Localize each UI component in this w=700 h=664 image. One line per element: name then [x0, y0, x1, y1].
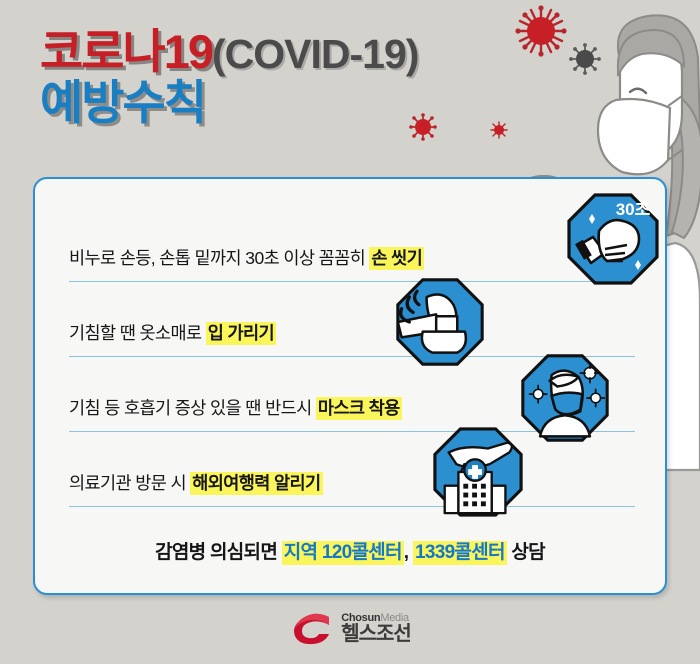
- rule-text-1-highlight: 손 씻기: [369, 247, 424, 270]
- virus-particle-gray: [568, 42, 602, 76]
- rule-text-1: 비누로 손등, 손톱 밑까지 30초 이상 꼼꼼히 손 씻기: [69, 245, 424, 270]
- call-center-suffix: 상담: [507, 542, 545, 563]
- rule-text-4-highlight: 해외여행력 알리기: [190, 472, 322, 495]
- chosun-c-mark-icon: [289, 612, 333, 646]
- call-center-separator: ,: [404, 542, 413, 563]
- airplane-hospital-icon: [431, 425, 525, 519]
- list-item: 기침할 땐 옷소매로 입 가리기: [69, 282, 635, 357]
- rule-text-3: 기침 등 호흡기 증상 있을 땐 반드시 마스크 착용: [69, 395, 402, 420]
- list-item: 기침 등 호흡기 증상 있을 땐 반드시 마스크 착용: [69, 357, 635, 432]
- call-center-notice: 감염병 의심되면 지역 120콜센터, 1339콜센터 상담: [35, 537, 665, 564]
- logo-brand-kr: 헬스조선: [341, 624, 411, 645]
- rule-text-4: 의료기관 방문 시 해외여행력 알리기: [69, 470, 323, 495]
- call-center-prefix: 감염병 의심되면: [155, 542, 282, 563]
- chosun-media-logo: ChosunMedia 헬스조선: [0, 612, 700, 646]
- title-korona19: 코로나19: [40, 25, 212, 78]
- logo-wordmark: ChosunMedia 헬스조선: [341, 613, 411, 646]
- cough-into-sleeve-icon: [394, 276, 486, 368]
- call-center-highlight-120: 지역 120콜센터: [282, 541, 404, 565]
- list-item: 비누로 손등, 손톱 밑까지 30초 이상 꼼꼼히 손 씻기 30초: [69, 207, 635, 282]
- rule-text-2-highlight: 입 가리기: [206, 322, 276, 345]
- logo-chosun-text: Chosun: [341, 612, 380, 624]
- rule-text-2-plain: 기침할 땐 옷소매로: [69, 323, 206, 343]
- rule-text-4-plain: 의료기관 방문 시: [69, 473, 190, 493]
- rule-text-3-highlight: 마스크 착용: [316, 397, 402, 420]
- rule-text-1-plain: 비누로 손등, 손톱 밑까지 30초 이상 꼼꼼히: [69, 248, 369, 268]
- hand-washing-duration-label: 30초: [616, 200, 651, 219]
- logo-media-text: Media: [380, 612, 408, 624]
- title-line-1: 코로나19(COVID-19): [40, 28, 560, 75]
- call-center-highlight-1339: 1339콜센터: [413, 541, 507, 565]
- rule-text-2: 기침할 땐 옷소매로 입 가리기: [69, 320, 276, 345]
- title-covid19: (COVID-19): [212, 31, 418, 77]
- poster-header: 코로나19(COVID-19) 예방수칙: [40, 28, 560, 126]
- title-line-2: 예방수칙: [40, 79, 560, 126]
- covid-prevention-infographic: 코로나19(COVID-19) 예방수칙 비누로 손등, 손톱 밑까지 30초 …: [0, 0, 700, 664]
- list-item: 의료기관 방문 시 해외여행력 알리기: [69, 432, 635, 507]
- prevention-rules-card: 비누로 손등, 손톱 밑까지 30초 이상 꼼꼼히 손 씻기 30초: [33, 177, 667, 595]
- face-mask-icon: [519, 352, 611, 444]
- hand-washing-icon: 30초: [565, 191, 661, 287]
- title-prevention-rules: 예방수칙: [40, 76, 205, 129]
- rule-text-3-plain: 기침 등 호흡기 증상 있을 땐 반드시: [69, 398, 316, 418]
- rules-list: 비누로 손등, 손톱 밑까지 30초 이상 꼼꼼히 손 씻기 30초: [69, 207, 635, 507]
